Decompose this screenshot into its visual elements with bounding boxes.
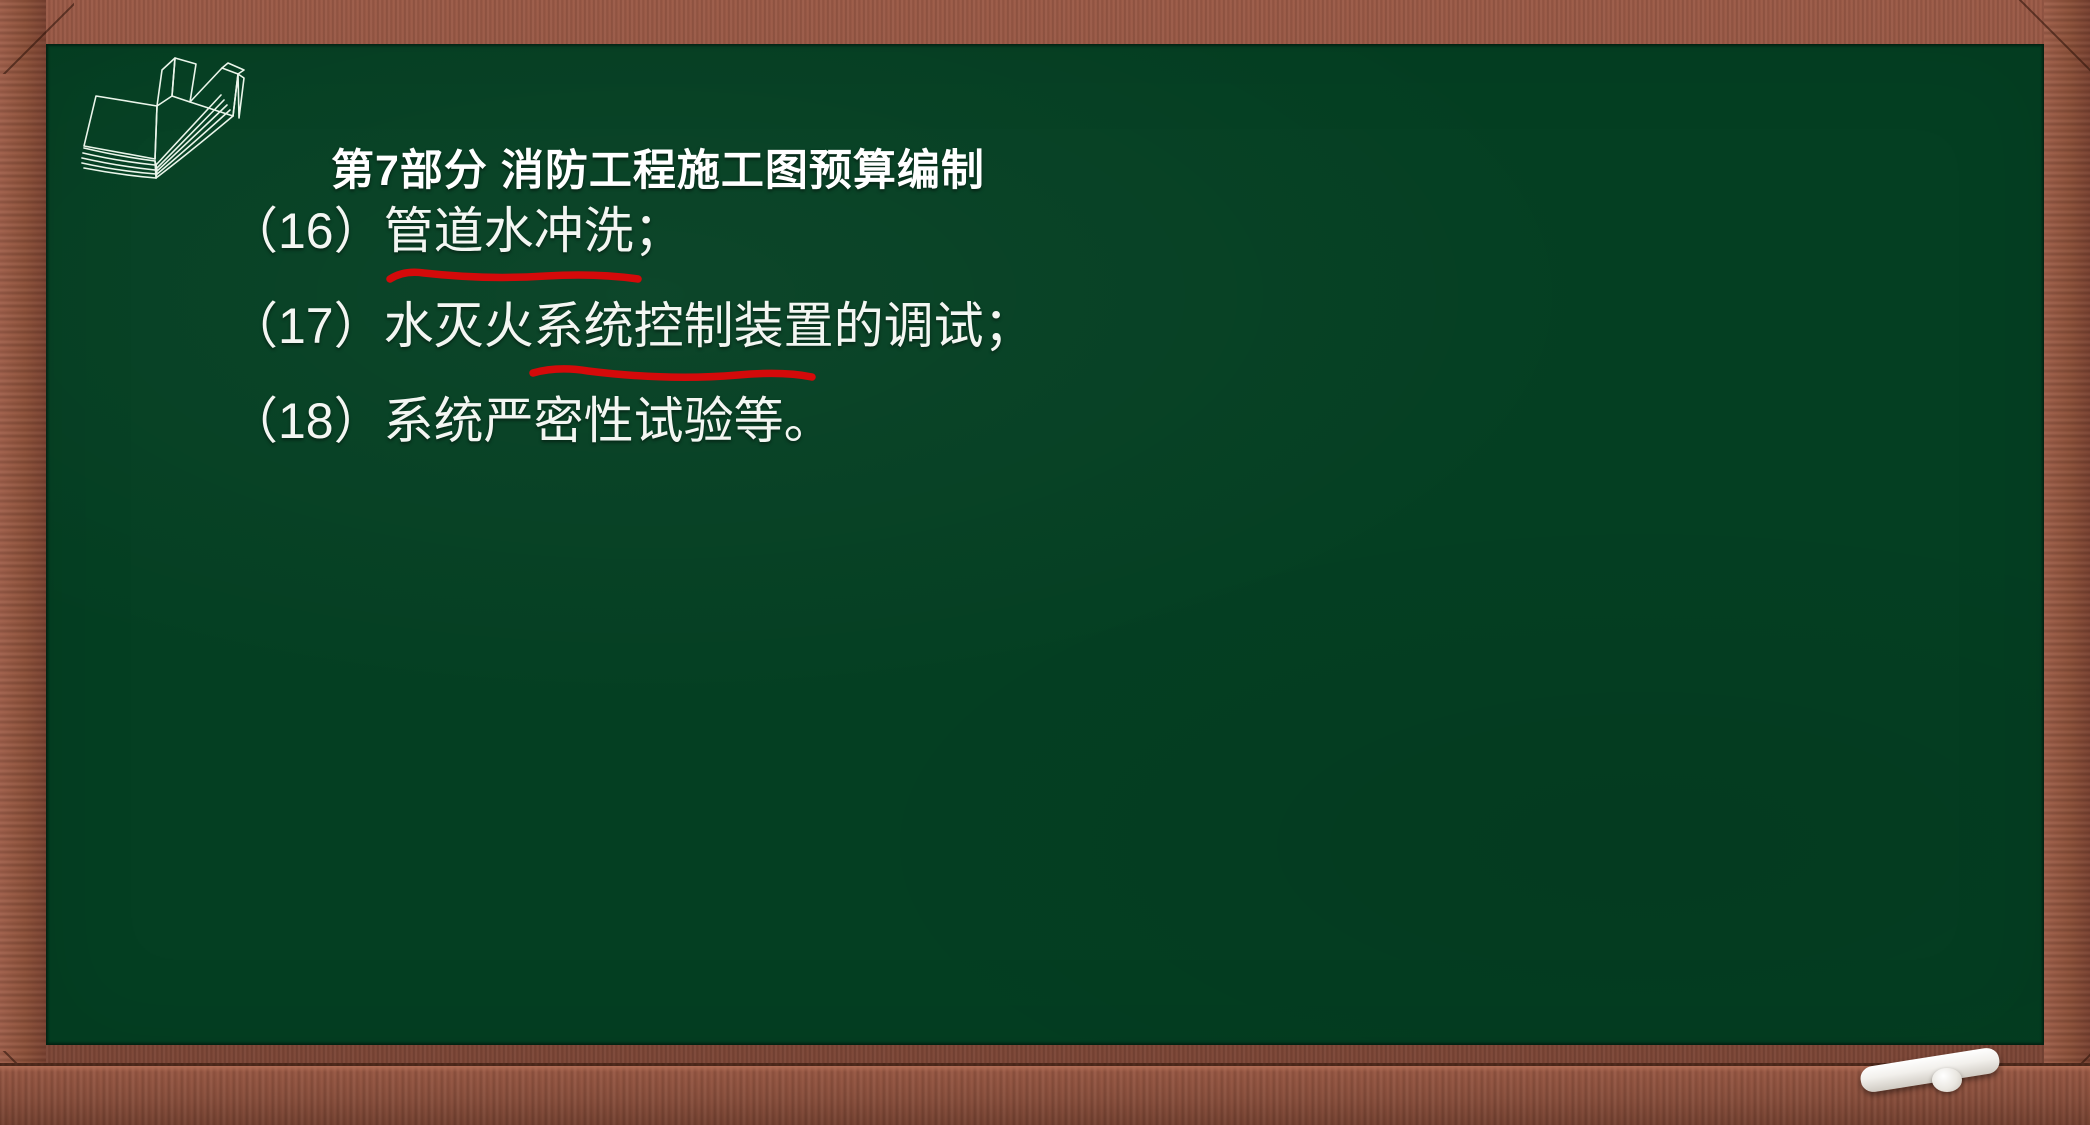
list-item: （16）管道水冲洗； [228, 196, 1928, 291]
list-item: （18）系统严密性试验等。 [228, 386, 1928, 481]
list-item-label: （17）水灭火系统控制装置的调试； [228, 291, 1034, 351]
list-item-label: （16）管道水冲洗； [228, 196, 684, 256]
list-item-label: （18）系统严密性试验等。 [228, 386, 834, 446]
list-item: （17）水灭火系统控制装置的调试； [228, 291, 1928, 386]
chalk-piece[interactable] [1932, 1068, 1962, 1092]
ledge-lip [0, 1066, 2090, 1072]
chalkboard-surface: 第7部分 消防工程施工图预算编制 （16）管道水冲洗； （17）水灭火系统控制装… [46, 44, 2044, 1045]
frame-left-stile [0, 0, 46, 1125]
red-underline-annotation [386, 264, 646, 290]
content-list: （16）管道水冲洗； （17）水灭火系统控制装置的调试； （18）系统严密性试验… [228, 196, 1928, 481]
chalkboard-slide: 第7部分 消防工程施工图预算编制 （16）管道水冲洗； （17）水灭火系统控制装… [0, 0, 2090, 1125]
red-underline-annotation [528, 361, 818, 387]
frame-right-stile [2044, 0, 2090, 1125]
chalk-ledge [0, 1063, 2090, 1125]
page-title: 第7部分 消防工程施工图预算编制 [331, 136, 985, 198]
open-book-icon [62, 44, 252, 189]
